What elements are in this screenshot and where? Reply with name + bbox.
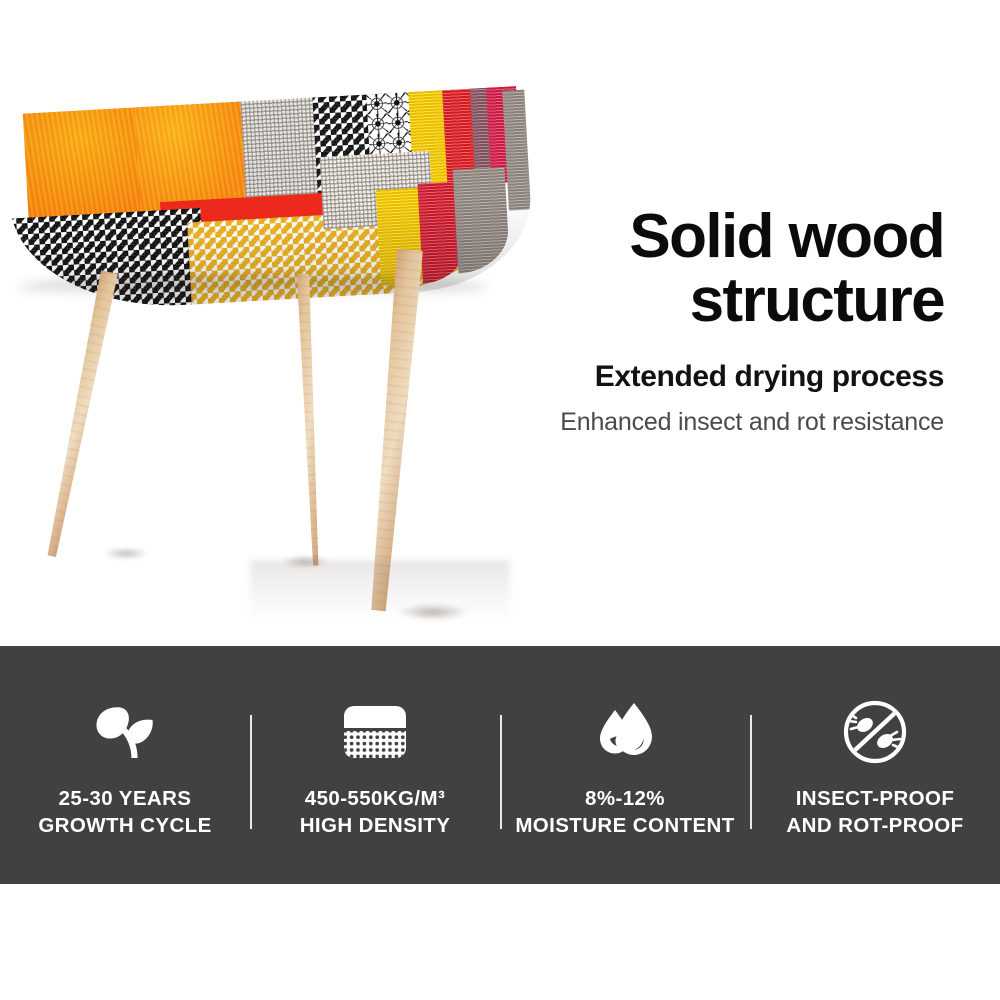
chair-product-photo [0,0,560,620]
feature-label-line-1: 25-30 YEARS [38,785,211,812]
product-feature-banner: Solid wood structure Extended drying pro… [0,0,1000,1000]
feature-label-line-2: MOISTURE CONTENT [515,812,734,839]
feature-high-density: 450-550KG/M³ HIGH DENSITY [250,646,500,884]
fabric-patch-grey-knit [502,89,535,211]
chair-leg-rear-left [292,274,327,567]
marketing-copy: Solid wood structure Extended drying pro… [524,205,944,437]
hero-photo-area: Solid wood structure Extended drying pro… [0,0,1000,646]
headline-line-2: structure [524,269,944,333]
feature-label: 8%-12% MOISTURE CONTENT [515,785,734,840]
feature-label: 450-550KG/M³ HIGH DENSITY [300,785,451,840]
feature-label-line-1: 8%-12% [515,785,734,812]
chair-leg-front-left [38,269,122,559]
bottom-white-strip [0,884,1000,1000]
no-insect-icon [841,695,909,769]
subtitle: Extended drying process [524,360,944,394]
headline-line-1: Solid wood [629,202,944,271]
feature-label-line-1: INSECT-PROOF [786,785,963,812]
chair-leg-front-right [361,248,428,612]
feature-label-line-2: AND ROT-PROOF [786,812,963,839]
fabric-patch-grey-side [453,167,511,274]
feature-label-line-2: HIGH DENSITY [300,812,451,839]
water-droplets-icon [591,695,659,769]
feature-label: INSECT-PROOF AND ROT-PROOF [786,785,963,840]
density-block-icon [342,695,408,769]
feature-growth-cycle: 25-30 YEARS GROWTH CYCLE [0,646,250,884]
floor-reflection [250,560,510,620]
feature-label-line-2: GROWTH CYCLE [38,812,211,839]
feature-label: 25-30 YEARS GROWTH CYCLE [38,785,211,840]
description: Enhanced insect and rot resistance [524,408,944,437]
leg-shadow-front-left [104,548,148,559]
page-title: Solid wood structure [524,205,944,334]
feature-insect-rot-proof: INSECT-PROOF AND ROT-PROOF [750,646,1000,884]
feature-label-line-1: 450-550KG/M³ [300,785,451,812]
feature-moisture-content: 8%-12% MOISTURE CONTENT [500,646,750,884]
feature-bar: 25-30 YEARS GROWTH CYCLE [0,646,1000,884]
leaf-icon [90,695,160,769]
